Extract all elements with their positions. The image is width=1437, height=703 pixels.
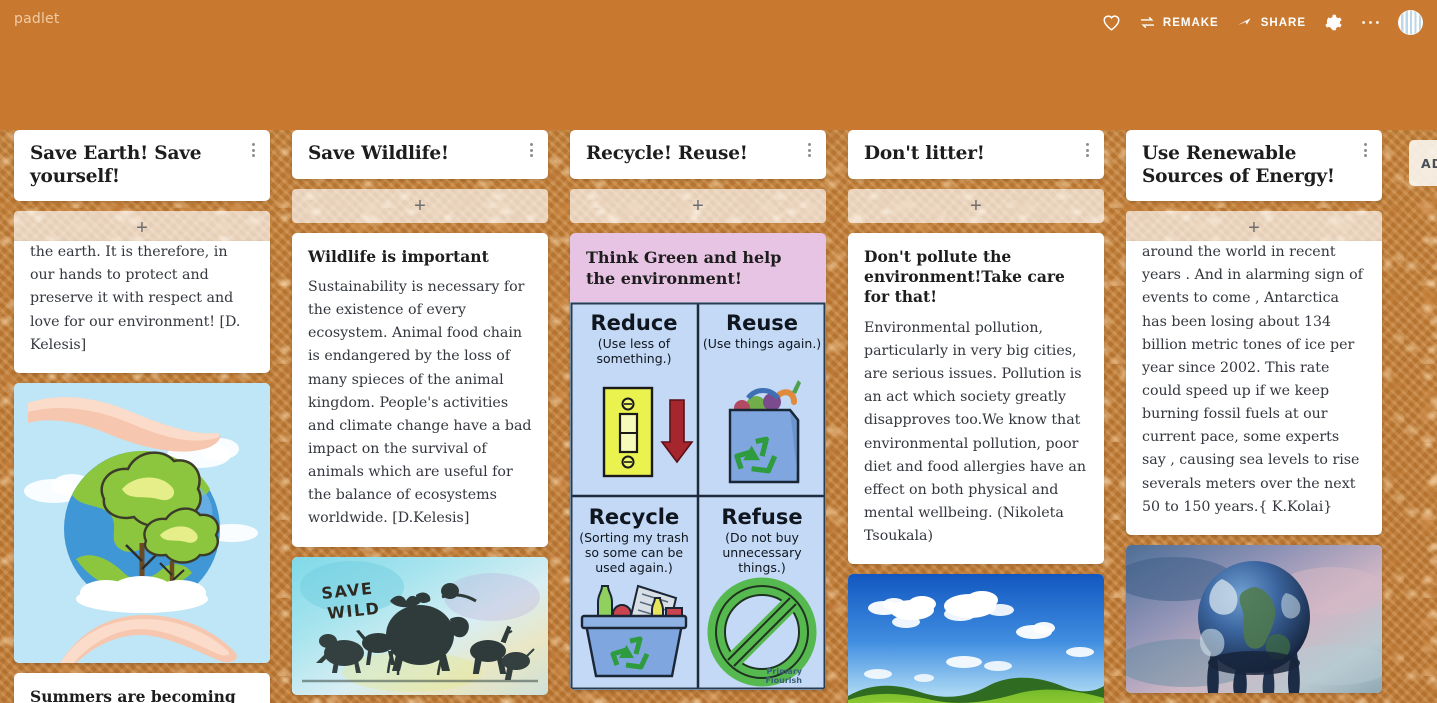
post-text: the earth. It is therefore, in our hands… <box>30 241 254 357</box>
post-text: Environmental pollution, particularly in… <box>864 317 1088 548</box>
svg-text:(Sorting my trash: (Sorting my trash <box>579 530 689 545</box>
column-menu-icon[interactable] <box>523 141 539 159</box>
post-card[interactable]: Think Green and help the environment! Re… <box>570 233 826 690</box>
column-title: Use Renewable Sources of Energy! <box>1142 143 1348 188</box>
svg-text:(Do not buy: (Do not buy <box>725 530 799 545</box>
column-header[interactable]: Save Earth! Save yourself! <box>14 130 270 201</box>
svg-text:so some can be: so some can be <box>585 545 683 560</box>
column-menu-icon[interactable] <box>801 141 817 159</box>
add-post-button[interactable]: + <box>570 189 826 223</box>
svg-text:used again.): used again.) <box>595 560 673 575</box>
post-card[interactable]: Wildlife is important Sustainability is … <box>292 233 548 547</box>
add-section-button[interactable]: AD <box>1409 140 1437 186</box>
board-columns: Save Earth! Save yourself! + the earth. … <box>0 130 1437 703</box>
remake-label: REMAKE <box>1163 17 1219 29</box>
column-header[interactable]: Recycle! Reuse! <box>570 130 826 179</box>
add-post-button[interactable]: + <box>1126 211 1382 245</box>
column-renewable-energy: Use Renewable Sources of Energy! + aroun… <box>1126 130 1382 693</box>
column-recycle-reuse: Recycle! Reuse! + Think Green and help t… <box>570 130 826 690</box>
svg-text:(Use things again.): (Use things again.) <box>703 336 821 351</box>
share-label: SHARE <box>1261 17 1306 29</box>
heart-icon <box>1102 14 1121 31</box>
ellipsis-icon <box>1361 19 1380 26</box>
svg-text:(Use less of: (Use less of <box>598 336 671 351</box>
column-posts: Don't pollute the environment!Take care … <box>848 233 1104 703</box>
settings-button[interactable] <box>1324 13 1343 32</box>
post-card[interactable] <box>1126 545 1382 693</box>
svg-text:Flourish: Flourish <box>765 676 802 685</box>
post-title: Think Green and help the environment! <box>586 247 810 289</box>
column-posts: Think Green and help the environment! Re… <box>570 233 826 690</box>
share-button[interactable]: SHARE <box>1237 15 1306 30</box>
post-text: Sustainability is necessary for the exis… <box>308 276 532 531</box>
top-actions: REMAKE SHARE <box>1102 10 1423 35</box>
earth-in-hands-illustration <box>14 383 270 663</box>
gear-icon <box>1324 13 1343 32</box>
four-rs-infographic: Reduce (Use less of something.) Reuse <box>570 302 826 690</box>
favorite-button[interactable] <box>1102 14 1121 31</box>
column-menu-icon[interactable] <box>1357 141 1373 159</box>
column-save-wildlife: Save Wildlife! + Wildlife is important S… <box>292 130 548 695</box>
column-save-earth: Save Earth! Save yourself! + the earth. … <box>14 130 270 703</box>
post-title: Don't pollute the environment!Take care … <box>864 247 1088 308</box>
column-menu-icon[interactable] <box>1079 141 1095 159</box>
svg-text:Refuse: Refuse <box>721 505 802 529</box>
column-dont-litter: Don't litter! + Don't pollute the enviro… <box>848 130 1104 703</box>
column-header[interactable]: Use Renewable Sources of Energy! <box>1126 130 1382 201</box>
plus-icon: + <box>1248 218 1260 238</box>
save-wild-animals-silhouette: SAVE WILD <box>292 557 548 695</box>
column-title: Save Wildlife! <box>308 143 514 166</box>
column-header[interactable]: Don't litter! <box>848 130 1104 179</box>
column-header[interactable]: Save Wildlife! <box>292 130 548 179</box>
green-hills-blue-sky-photo <box>848 574 1104 703</box>
svg-text:things.): things.) <box>738 560 786 575</box>
column-title: Don't litter! <box>864 143 1070 166</box>
svg-text:something.): something.) <box>596 351 671 366</box>
svg-text:Recycle: Recycle <box>589 505 679 529</box>
column-posts: Wildlife is important Sustainability is … <box>292 233 548 695</box>
post-title: Wildlife is important <box>308 247 532 267</box>
column-title: Save Earth! Save yourself! <box>30 143 236 188</box>
post-card[interactable]: SAVE WILD <box>292 557 548 695</box>
post-text: around the world in recent years . And i… <box>1142 241 1366 519</box>
share-icon <box>1237 15 1254 30</box>
user-avatar[interactable] <box>1398 10 1423 35</box>
column-posts: around the world in recent years . And i… <box>1126 255 1382 693</box>
padlet-logo[interactable]: padlet <box>14 11 60 27</box>
post-card[interactable]: around the world in recent years . And i… <box>1126 241 1382 535</box>
svg-text:Reduce: Reduce <box>590 311 677 335</box>
plus-icon: + <box>414 196 426 216</box>
post-card[interactable]: Summers are becoming <box>14 673 270 703</box>
remake-button[interactable]: REMAKE <box>1139 15 1219 30</box>
add-post-button[interactable]: + <box>292 189 548 223</box>
plus-icon: + <box>970 196 982 216</box>
top-bar: padlet REMAKE SHARE <box>0 0 1437 130</box>
svg-text:Primary: Primary <box>767 667 803 676</box>
post-card[interactable] <box>14 383 270 663</box>
melting-earth-photo <box>1126 545 1382 693</box>
column-posts: the earth. It is therefore, in our hands… <box>14 255 270 703</box>
post-card[interactable]: the earth. It is therefore, in our hands… <box>14 241 270 373</box>
post-card[interactable]: Don't pollute the environment!Take care … <box>848 233 1104 565</box>
column-title: Recycle! Reuse! <box>586 143 792 166</box>
add-post-button[interactable]: + <box>848 189 1104 223</box>
svg-text:Reuse: Reuse <box>726 311 798 335</box>
post-card[interactable] <box>848 574 1104 703</box>
add-section-label: AD <box>1421 156 1437 171</box>
svg-text:unnecessary: unnecessary <box>722 545 802 560</box>
post-title: Summers are becoming <box>30 687 254 703</box>
plus-icon: + <box>136 218 148 238</box>
add-post-button[interactable]: + <box>14 211 270 245</box>
column-menu-icon[interactable] <box>245 141 261 159</box>
remake-icon <box>1139 15 1156 30</box>
plus-icon: + <box>692 196 704 216</box>
more-options-button[interactable] <box>1361 19 1380 26</box>
